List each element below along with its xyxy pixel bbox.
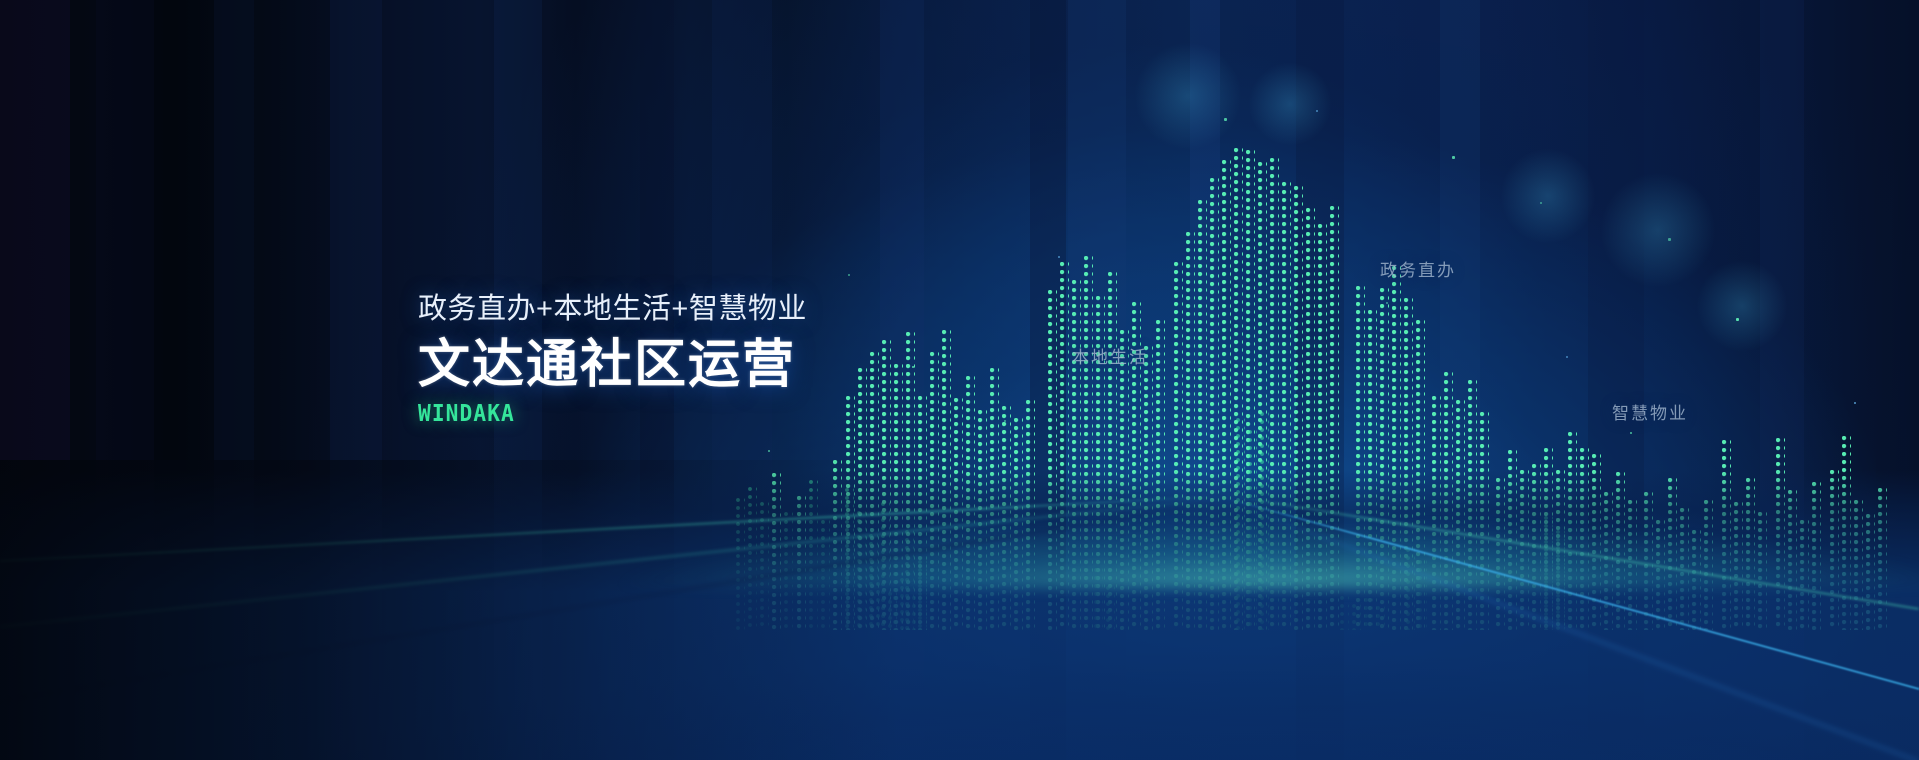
particle-dot <box>1630 432 1632 434</box>
particle-dot <box>1540 202 1542 204</box>
particle-dot <box>1058 256 1060 258</box>
particle-dot <box>1736 318 1739 321</box>
particle-dot <box>1386 302 1388 304</box>
particle-dot <box>1854 402 1856 404</box>
particle-dot <box>1668 238 1671 241</box>
banner-subtitle: 政务直办+本地生活+智慧物业 <box>418 292 1118 327</box>
city-label-1: 政务直办 <box>1380 256 1456 281</box>
hero-banner: 政务直办本地生活智慧物业 政务直办+本地生活+智慧物业 文达通社区运营 WIND… <box>0 0 1919 760</box>
brand-wordmark: WINDAKA <box>418 401 1062 427</box>
banner-title: 文达通社区运营 <box>418 337 1118 393</box>
particle-dot <box>1224 118 1227 121</box>
particle-dot <box>848 274 850 276</box>
particle-dot <box>1566 356 1568 358</box>
particle-dot <box>768 450 770 452</box>
particle-dot <box>1480 470 1482 472</box>
city-label-3: 智慧物业 <box>1612 399 1688 424</box>
particle-dot <box>1452 156 1455 159</box>
particle-dot <box>1316 110 1318 112</box>
headline-block: 政务直办+本地生活+智慧物业 文达通社区运营 WINDAKA <box>418 292 1118 427</box>
